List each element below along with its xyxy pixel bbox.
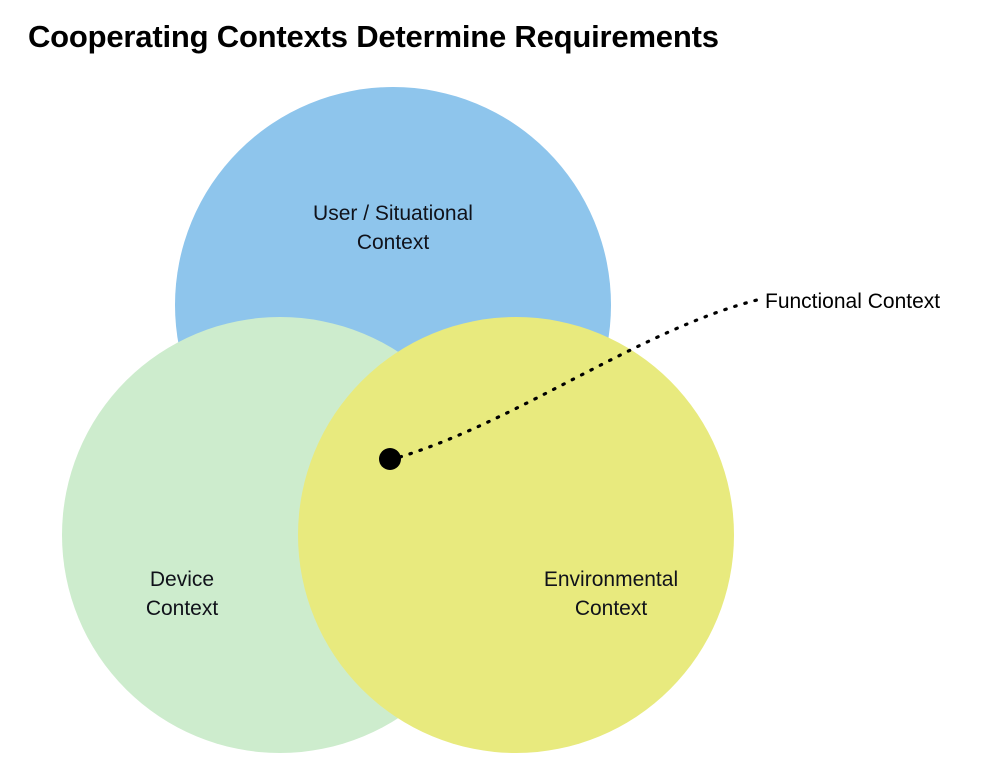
venn-diagram: User / Situational Context Device Contex… <box>0 0 994 768</box>
venn-diagram-svg <box>0 0 994 768</box>
venn-circle-group <box>62 87 734 753</box>
dot-marker <box>379 448 401 470</box>
slide-canvas: Cooperating Contexts Determine Requireme… <box>0 0 994 768</box>
callout-label-functional-context: Functional Context <box>765 288 940 315</box>
venn-circle-environmental <box>298 317 734 753</box>
